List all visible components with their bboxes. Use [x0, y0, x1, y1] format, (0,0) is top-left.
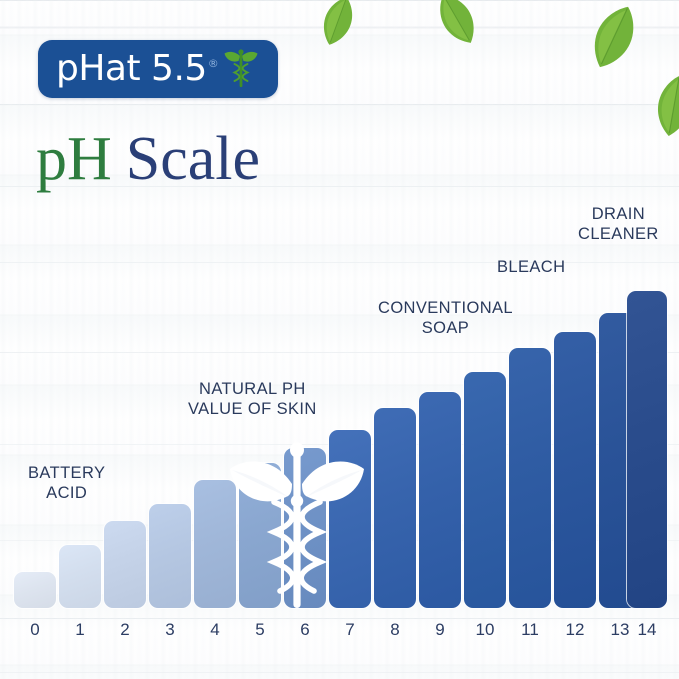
bar-ph-12	[554, 332, 596, 608]
x-tick-4: 4	[194, 620, 236, 640]
ph-bar-chart: 01234567891011121314 BATTERY ACIDNATURAL…	[0, 0, 679, 679]
caduceus-leaf-icon	[222, 438, 372, 610]
ph-scale-infographic: pHat 5.5® pHScale 01234567891011121314 B…	[0, 0, 679, 679]
annotation-natural-ph-value-of-skin: NATURAL PH VALUE OF SKIN	[188, 379, 317, 419]
x-tick-14: 14	[627, 620, 667, 640]
bar-ph-9	[419, 392, 461, 608]
x-tick-10: 10	[464, 620, 506, 640]
bar-ph-11	[509, 348, 551, 608]
x-tick-6: 6	[284, 620, 326, 640]
bar-ph-8	[374, 408, 416, 608]
x-tick-9: 9	[419, 620, 461, 640]
x-tick-11: 11	[509, 620, 551, 640]
annotation-battery-acid: BATTERY ACID	[28, 463, 105, 503]
x-tick-1: 1	[59, 620, 101, 640]
x-tick-3: 3	[149, 620, 191, 640]
annotation-bleach: BLEACH	[497, 257, 565, 277]
x-tick-7: 7	[329, 620, 371, 640]
annotation-drain-cleaner: DRAIN CLEANER	[578, 204, 659, 244]
x-tick-12: 12	[554, 620, 596, 640]
x-tick-0: 0	[14, 620, 56, 640]
bar-ph-1	[59, 545, 101, 608]
bar-ph-10	[464, 372, 506, 608]
bar-ph-0	[14, 572, 56, 608]
bar-ph-14	[627, 291, 667, 608]
bar-ph-2	[104, 521, 146, 608]
x-tick-8: 8	[374, 620, 416, 640]
annotation-conventional-soap: CONVENTIONAL SOAP	[378, 298, 513, 338]
x-tick-5: 5	[239, 620, 281, 640]
bar-ph-3	[149, 504, 191, 608]
x-tick-2: 2	[104, 620, 146, 640]
